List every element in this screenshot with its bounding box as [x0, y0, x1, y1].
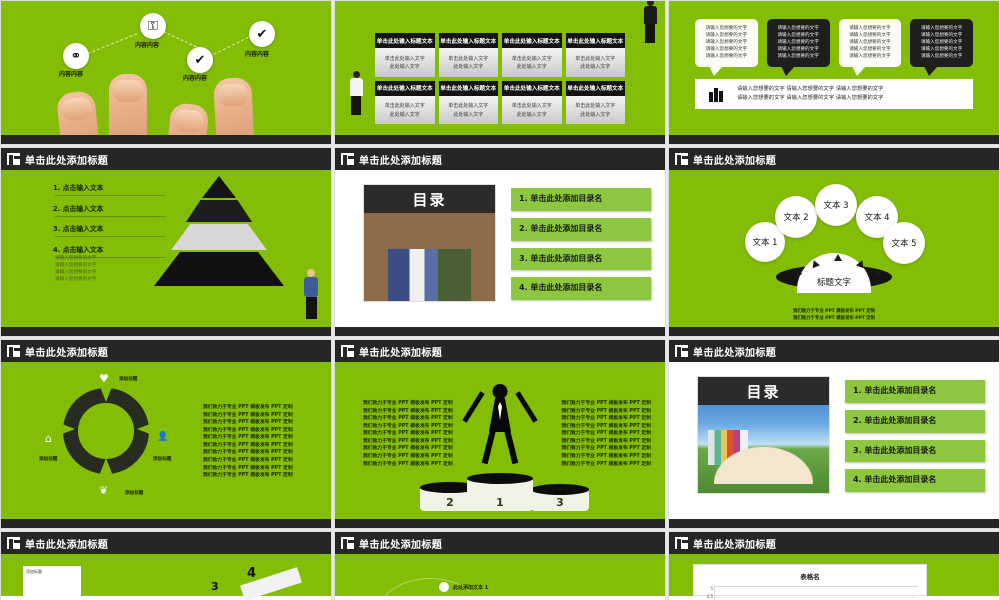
- ring-label-2: 添加标题: [39, 456, 57, 462]
- link-icon: ⚭: [71, 49, 82, 64]
- text-box[interactable]: 添加标题: [23, 566, 81, 596]
- card-body: 单击此处输入文字 此处输入文字: [375, 48, 435, 77]
- toc-item-4[interactable]: 4. 单击此处添加目录名: [845, 469, 985, 492]
- timeline-label-1: 此处添加文本 1: [453, 584, 488, 591]
- slide-body: 添加标题 3 4: [1, 554, 331, 596]
- card-line-1: 单击此处输入文字: [377, 55, 433, 62]
- card-header: 单击此处输入标题文本: [375, 33, 435, 48]
- card-header: 单击此处输入标题文本: [439, 33, 499, 48]
- node-label-1: 内容内容: [59, 69, 83, 78]
- toc-caption: 目录: [698, 377, 829, 405]
- slide-title-bar: 单击此处添加标题: [669, 532, 999, 554]
- arrow-icon: [834, 254, 842, 261]
- toc-item-1[interactable]: 1. 单击此处添加目录名: [511, 188, 651, 211]
- check-icon: ✔: [195, 53, 206, 68]
- node-label-3: 内容内容: [183, 73, 207, 82]
- card-body: 单击此处输入文字 此处输入文字: [439, 48, 499, 77]
- card-line-1: 单击此处输入文字: [568, 102, 624, 109]
- content-card[interactable]: 单击此处输入标题文本 单击此处输入文字 此处输入文字: [439, 33, 499, 77]
- note-line-2: 请输入您想要的文字 请输入您想要的文字 请输入您想要的文字: [737, 94, 883, 103]
- node-icon-2[interactable]: ⚿: [140, 13, 166, 39]
- note-line-1: 请输入您想要的文字 请输入您想要的文字 请输入您想要的文字: [737, 85, 883, 94]
- slide-thumbnail-10[interactable]: 单击此处添加标题 添加标题 3 4: [0, 531, 332, 600]
- leaf-icon: ❦: [99, 484, 108, 497]
- person-icon: 👤: [157, 432, 168, 442]
- slide-title: 单击此处添加标题: [25, 344, 108, 359]
- card-header: 单击此处输入标题文本: [566, 33, 626, 48]
- businessman-figure: [303, 269, 319, 319]
- key-icon: ⚿: [148, 19, 158, 34]
- slide-thumbnail-5[interactable]: 单击此处添加标题 目录 1. 单击此处添加目录名 2. 单击此处添加目录名 3.…: [334, 147, 666, 337]
- slide-footer-bar: [335, 135, 665, 144]
- slide-footer-bar: [669, 135, 999, 144]
- slide-thumbnail-11[interactable]: 单击此处添加标题 此处添加文本 1: [334, 531, 666, 600]
- plot-region: [714, 586, 918, 600]
- slide-body: 此处添加文本 1: [335, 554, 665, 596]
- node-label-4: 内容内容: [245, 49, 269, 58]
- card-line-2: 此处输入文字: [441, 111, 497, 118]
- slide-footer-bar: [1, 135, 331, 144]
- card-line-2: 此处输入文字: [377, 111, 433, 118]
- toc-list: 1. 单击此处添加目录名 2. 单击此处添加目录名 3. 单击此处添加目录名 4…: [511, 188, 651, 307]
- step-number-3: 3: [211, 580, 219, 593]
- businessman-figure-left: [349, 71, 363, 115]
- card-line-1: 单击此处输入文字: [504, 102, 560, 109]
- card-line-2: 此处输入文字: [504, 111, 560, 118]
- y-tick-0: 5: [710, 586, 713, 591]
- speech-bubble-row: 请输入您想要的文字 请输入您想要的文字 请输入您想要的文字 请输入您想要的文字 …: [695, 19, 973, 67]
- pyramid-graphic: [153, 178, 285, 286]
- fists-photo: ⚭ 内容内容 ⚿ 内容内容 ✔ 内容内容 ✔ 内容内容: [1, 1, 331, 144]
- presentation-icon: [675, 153, 688, 165]
- presentation-icon: [341, 537, 354, 549]
- toc-item-3[interactable]: 3. 单击此处添加目录名: [845, 440, 985, 463]
- people-group-icon: [709, 86, 725, 102]
- card-body: 单击此处输入文字 此处输入文字: [502, 96, 562, 125]
- note-bar: 请输入您想要的文字 请输入您想要的文字 请输入您想要的文字 请输入您想要的文字 …: [695, 79, 973, 109]
- slide-footer-bar: [335, 327, 665, 336]
- slide-title: 单击此处添加标题: [25, 152, 108, 167]
- timeline-dot-1[interactable]: [439, 582, 449, 592]
- toc-photo: 目录: [363, 184, 496, 302]
- card-header: 单击此处输入标题文本: [502, 81, 562, 96]
- content-card[interactable]: 单击此处输入标题文本 单击此处输入文字 此处输入文字: [375, 33, 435, 77]
- slide-title: 单击此处添加标题: [359, 536, 442, 551]
- slide-body: 标题文字 文本 1 文本 2 文本 3 文本 4 文本 5: [669, 170, 999, 327]
- toc-item-4[interactable]: 4. 单击此处添加目录名: [511, 277, 651, 300]
- right-text-block: 我们致力于专业 PPT 模板发布 PPT 定制 我们致力于专业 PPT 模板发布…: [561, 400, 651, 468]
- slide-thumbnail-9[interactable]: 单击此处添加标题 目录 1. 单击此处添加目录名 2. 单击此处添加目录名 3.…: [668, 339, 1000, 529]
- card-line-2: 此处输入文字: [568, 111, 624, 118]
- slide-footer-bar: [1, 327, 331, 336]
- toc-item-2[interactable]: 2. 单击此处添加目录名: [511, 218, 651, 241]
- card-line-2: 此处输入文字: [504, 63, 560, 70]
- slide-title: 单击此处添加标题: [359, 344, 442, 359]
- slide-title-bar: 单击此处添加标题: [1, 148, 331, 170]
- slide-footer-bar: [669, 327, 999, 336]
- podium-step-3[interactable]: 3: [531, 489, 589, 511]
- card-line-1: 单击此处输入文字: [441, 55, 497, 62]
- card-line-1: 单击此处输入文字: [377, 102, 433, 109]
- chart-plot-area: 5 4.5: [702, 586, 918, 600]
- center-label: 标题文字: [817, 276, 851, 288]
- node-icon-3[interactable]: ✔: [187, 47, 213, 73]
- presentation-icon: [341, 153, 354, 165]
- content-card[interactable]: 单击此处输入标题文本 单击此处输入文字 此处输入文字: [566, 33, 626, 77]
- card-header: 单击此处输入标题文本: [566, 81, 626, 96]
- card-grid: 单击此处输入标题文本 单击此处输入文字 此处输入文字 单击此处输入标题文本 单击…: [375, 33, 625, 124]
- toc-item-3[interactable]: 3. 单击此处添加目录名: [511, 248, 651, 271]
- presentation-icon: [7, 153, 20, 165]
- chart-panel[interactable]: 表格名 5 4.5: [693, 564, 927, 596]
- check-icon: ✔: [257, 27, 268, 42]
- ring-label-1: 添加标题: [119, 376, 137, 382]
- speech-bubble[interactable]: 请输入您想要的文字 请输入您想要的文字 请输入您想要的文字 请输入您想要的文字 …: [695, 19, 758, 67]
- slide-thumbnail-6[interactable]: 单击此处添加标题 标题文字 文本 1 文本 2 文本 3 文本 4 文本 5: [668, 147, 1000, 337]
- content-card[interactable]: 单击此处输入标题文本 单击此处输入文字 此处输入文字: [375, 81, 435, 125]
- slide-title: 单击此处添加标题: [693, 536, 776, 551]
- slide-thumbnail-12[interactable]: 单击此处添加标题 表格名 5 4.5: [668, 531, 1000, 600]
- radial-node-3[interactable]: 文本 3: [815, 184, 857, 226]
- card-line-2: 此处输入文字: [568, 63, 624, 70]
- slide-footer-bar: [335, 519, 665, 528]
- card-header: 单击此处输入标题文本: [502, 33, 562, 48]
- slide-title-bar: 单击此处添加标题: [1, 532, 331, 554]
- businessman-figure-right: [643, 0, 657, 43]
- slide-thumbnail-grid: ⚭ 内容内容 ⚿ 内容内容 ✔ 内容内容 ✔ 内容内容: [0, 0, 1000, 600]
- card-body: 单击此处输入文字 此处输入文字: [439, 96, 499, 125]
- card-header: 单击此处输入标题文本: [375, 81, 435, 96]
- sub-text-block: 请输入您想要的文字 请输入您想要的文字 请输入您想要的文字 请输入您想要的文字: [55, 256, 96, 284]
- slide-title-bar: 单击此处添加标题: [1, 340, 331, 362]
- slide-thumbnail-1[interactable]: ⚭ 内容内容 ⚿ 内容内容 ✔ 内容内容 ✔ 内容内容: [0, 0, 332, 145]
- note-text: 请输入您想要的文字 请输入您想要的文字 请输入您想要的文字 请输入您想要的文字 …: [737, 85, 883, 103]
- y-tick-1: 4.5: [707, 594, 713, 599]
- slide-body: 目录 1. 单击此处添加目录名 2. 单击此处添加目录名 3. 单击此处添加目录…: [669, 362, 999, 519]
- podium-step-1[interactable]: 1: [467, 478, 533, 511]
- connector-line: [83, 33, 137, 56]
- toc-caption: 目录: [364, 185, 495, 213]
- card-line-2: 此处输入文字: [377, 63, 433, 70]
- ring-label-3: 添加标题: [153, 456, 171, 462]
- speech-bubble[interactable]: 请输入您想要的文字 请输入您想要的文字 请输入您想要的文字 请输入您想要的文字 …: [767, 19, 830, 67]
- slide-body: ♥ 添加标题 ⌂ 添加标题 👤 添加标题 ❦ 添加标题 我们致力于专业 PPT …: [1, 362, 331, 519]
- slide-title-bar: 单击此处添加标题: [669, 340, 999, 362]
- node-icon-1[interactable]: ⚭: [63, 43, 89, 69]
- left-text-block: 我们致力于专业 PPT 模板发布 PPT 定制 我们致力于专业 PPT 模板发布…: [363, 400, 453, 468]
- text-block: 我们致力于专业 PPT 模板发布 PPT 定制 我们致力于专业 PPT 模板发布…: [203, 404, 293, 480]
- card-line-1: 单击此处输入文字: [504, 55, 560, 62]
- toc-list: 1. 单击此处添加目录名 2. 单击此处添加目录名 3. 单击此处添加目录名 4…: [845, 380, 985, 499]
- y-axis-ticks: 5 4.5: [702, 586, 714, 600]
- slide-title-bar: 单击此处添加标题: [335, 148, 665, 170]
- slide-body: 目录 1. 单击此处添加目录名 2. 单击此处添加目录名 3. 单击此处添加目录…: [335, 170, 665, 327]
- card-body: 单击此处输入文字 此处输入文字: [566, 48, 626, 77]
- ring-label-4: 添加标题: [125, 490, 143, 496]
- node-label-2: 内容内容: [135, 40, 159, 49]
- slide-title-bar: 单击此处添加标题: [335, 532, 665, 554]
- slide-thumbnail-2[interactable]: 单击此处输入标题文本 单击此处输入文字 此处输入文字 单击此处输入标题文本 单击…: [334, 0, 666, 145]
- slide-title: 单击此处添加标题: [359, 152, 442, 167]
- slide-title: 单击此处添加标题: [25, 536, 108, 551]
- radial-node-2[interactable]: 文本 2: [775, 196, 817, 238]
- card-body: 单击此处输入文字 此处输入文字: [502, 48, 562, 77]
- text-box-label: 添加标题: [23, 566, 81, 578]
- speech-bubble[interactable]: 请输入您想要的文字 请输入您想要的文字 请输入您想要的文字 请输入您想要的文字 …: [839, 19, 902, 67]
- slide-footer-bar: [669, 519, 999, 528]
- card-line-2: 此处输入文字: [441, 63, 497, 70]
- slide-title-bar: 单击此处添加标题: [669, 148, 999, 170]
- step-number-4: 4: [247, 566, 256, 581]
- presentation-icon: [7, 537, 20, 549]
- presentation-icon: [675, 537, 688, 549]
- slide-thumbnail-7[interactable]: 单击此处添加标题 ♥ 添加标题 ⌂ 添加标题 👤 添加标题 ❦ 添加标题 我们致…: [0, 339, 332, 529]
- radial-note: 我们致力于专业 PPT 模板发布 PPT 定制 我们致力于专业 PPT 模板发布…: [793, 309, 875, 323]
- card-body: 单击此处输入文字 此处输入文字: [566, 96, 626, 125]
- card-header: 单击此处输入标题文本: [439, 81, 499, 96]
- presentation-icon: [341, 345, 354, 357]
- toc-photo: 目录: [697, 376, 830, 494]
- node-icon-4[interactable]: ✔: [249, 21, 275, 47]
- slide-body: 1. 点击输入文本 2. 点击输入文本 3. 点击输入文本 4. 点击输入文本 …: [1, 170, 331, 327]
- victory-person-icon: [468, 376, 532, 464]
- slide-thumbnail-3[interactable]: 请输入您想要的文字 请输入您想要的文字 请输入您想要的文字 请输入您想要的文字 …: [668, 0, 1000, 145]
- slide-body: 表格名 5 4.5: [669, 554, 999, 596]
- toc-item-2[interactable]: 2. 单击此处添加目录名: [845, 410, 985, 433]
- presentation-icon: [7, 345, 20, 357]
- speech-bubble[interactable]: 请输入您想要的文字 请输入您想要的文字 请输入您想要的文字 请输入您想要的文字 …: [910, 19, 973, 67]
- slide-title-bar: 单击此处添加标题: [335, 340, 665, 362]
- content-card[interactable]: 单击此处输入标题文本 单击此处输入文字 此处输入文字: [439, 81, 499, 125]
- home-icon: ⌂: [45, 432, 52, 445]
- slide-body: 我们致力于专业 PPT 模板发布 PPT 定制 我们致力于专业 PPT 模板发布…: [335, 362, 665, 519]
- radial-node-5[interactable]: 文本 5: [883, 222, 925, 264]
- card-line-1: 单击此处输入文字: [441, 102, 497, 109]
- card-line-1: 单击此处输入文字: [568, 55, 624, 62]
- content-card[interactable]: 单击此处输入标题文本 单击此处输入文字 此处输入文字: [502, 81, 562, 125]
- presentation-icon: [675, 345, 688, 357]
- slide-thumbnail-8[interactable]: 单击此处添加标题 我们致力于专业 PPT 模板发布 PPT 定制 我们致力于专业…: [334, 339, 666, 529]
- heart-icon: ♥: [99, 372, 109, 385]
- card-body: 单击此处输入文字 此处输入文字: [375, 96, 435, 125]
- content-card[interactable]: 单击此处输入标题文本 单击此处输入文字 此处输入文字: [502, 33, 562, 77]
- slide-title: 单击此处添加标题: [693, 152, 776, 167]
- chart-title: 表格名: [702, 571, 918, 581]
- slide-thumbnail-4[interactable]: 单击此处添加标题 1. 点击输入文本 2. 点击输入文本 3. 点击输入文本 4…: [0, 147, 332, 337]
- toc-item-1[interactable]: 1. 单击此处添加目录名: [845, 380, 985, 403]
- slide-footer-bar: [1, 519, 331, 528]
- slide-title: 单击此处添加标题: [693, 344, 776, 359]
- content-card[interactable]: 单击此处输入标题文本 单击此处输入文字 此处输入文字: [566, 81, 626, 125]
